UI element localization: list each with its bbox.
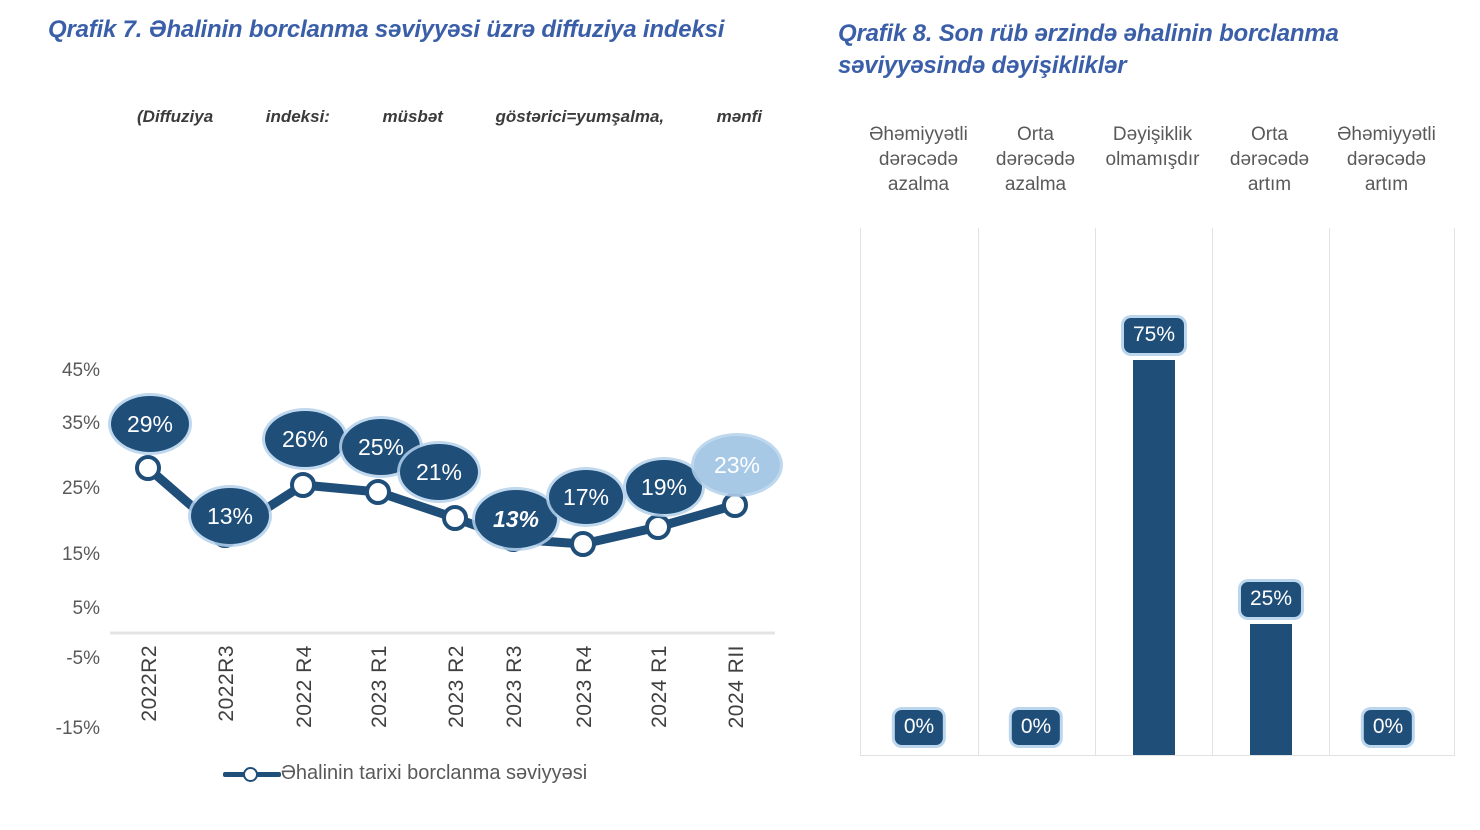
x-tick-2024rii: 2024 RII bbox=[725, 645, 749, 728]
category-label-significant-increase: Əhəmiyyətli dərəcədə artım bbox=[1328, 122, 1445, 217]
data-label-bubble-2022r4: 26% bbox=[265, 411, 345, 467]
gridline-2 bbox=[1095, 228, 1096, 755]
x-tick-2022r3: 2022R3 bbox=[215, 645, 239, 722]
data-label-bubble-2024rii: 23% bbox=[694, 436, 780, 494]
data-label-bubble-2023r2: 21% bbox=[400, 444, 478, 500]
chart-8-plot-area: 0% 0% 75% 25% 0% bbox=[860, 228, 1455, 756]
x-tick-2023r2: 2023 R2 bbox=[445, 645, 469, 728]
data-label-bubble-2022r2: 29% bbox=[111, 396, 189, 452]
gridline-3 bbox=[1212, 228, 1213, 755]
category-label-significant-decrease: Əhəmiyyətli dərəcədə azalma bbox=[860, 122, 977, 217]
chart-8-title: Qrafik 8. Son rüb ərzində əhalinin borcl… bbox=[838, 18, 1438, 81]
bar-value-no-change: 75% bbox=[1124, 318, 1184, 353]
bar-value-significant-increase: 0% bbox=[1364, 710, 1412, 745]
chart-8-panel: Qrafik 8. Son rüb ərzində əhalinin borcl… bbox=[810, 0, 1480, 830]
bar-no-change bbox=[1133, 360, 1175, 755]
bar-value-moderate-increase: 25% bbox=[1241, 582, 1301, 617]
x-tick-2022r4: 2022 R4 bbox=[293, 645, 317, 728]
data-label-bubble-2023r4: 17% bbox=[549, 470, 623, 524]
category-label-no-change: Dəyişiklik olmamışdır bbox=[1094, 122, 1211, 217]
gridline-4 bbox=[1329, 228, 1330, 755]
legend-line-marker-icon bbox=[223, 764, 281, 784]
data-label-bubble-2023r3: 13% bbox=[475, 490, 557, 548]
x-tick-2024r1: 2024 R1 bbox=[648, 645, 672, 728]
chart-7-legend: Əhalinin tarixi borclanma səviyyəsi bbox=[0, 762, 810, 785]
x-tick-2022r2: 2022R2 bbox=[138, 645, 162, 722]
chart-8-category-axis: Əhəmiyyətli dərəcədə azalma Orta dərəcəd… bbox=[860, 122, 1445, 217]
x-tick-2023r4: 2023 R4 bbox=[573, 645, 597, 728]
category-label-moderate-decrease: Orta dərəcədə azalma bbox=[977, 122, 1094, 217]
chart-7-panel: Qrafik 7. Əhalinin borclanma səviyyəsi ü… bbox=[0, 0, 810, 830]
bar-value-moderate-decrease: 0% bbox=[1012, 710, 1060, 745]
data-label-bubble-2024r1: 19% bbox=[626, 460, 702, 514]
data-label-bubble-2022r3: 13% bbox=[191, 488, 269, 544]
x-tick-2023r1: 2023 R1 bbox=[368, 645, 392, 728]
bar-value-significant-decrease: 0% bbox=[895, 710, 943, 745]
category-label-moderate-increase: Orta dərəcədə artım bbox=[1211, 122, 1328, 217]
bar-moderate-increase bbox=[1250, 624, 1292, 755]
x-tick-2023r3: 2023 R3 bbox=[503, 645, 527, 728]
legend-label: Əhalinin tarixi borclanma səviyyəsi bbox=[281, 762, 587, 785]
gridline-1 bbox=[978, 228, 979, 755]
